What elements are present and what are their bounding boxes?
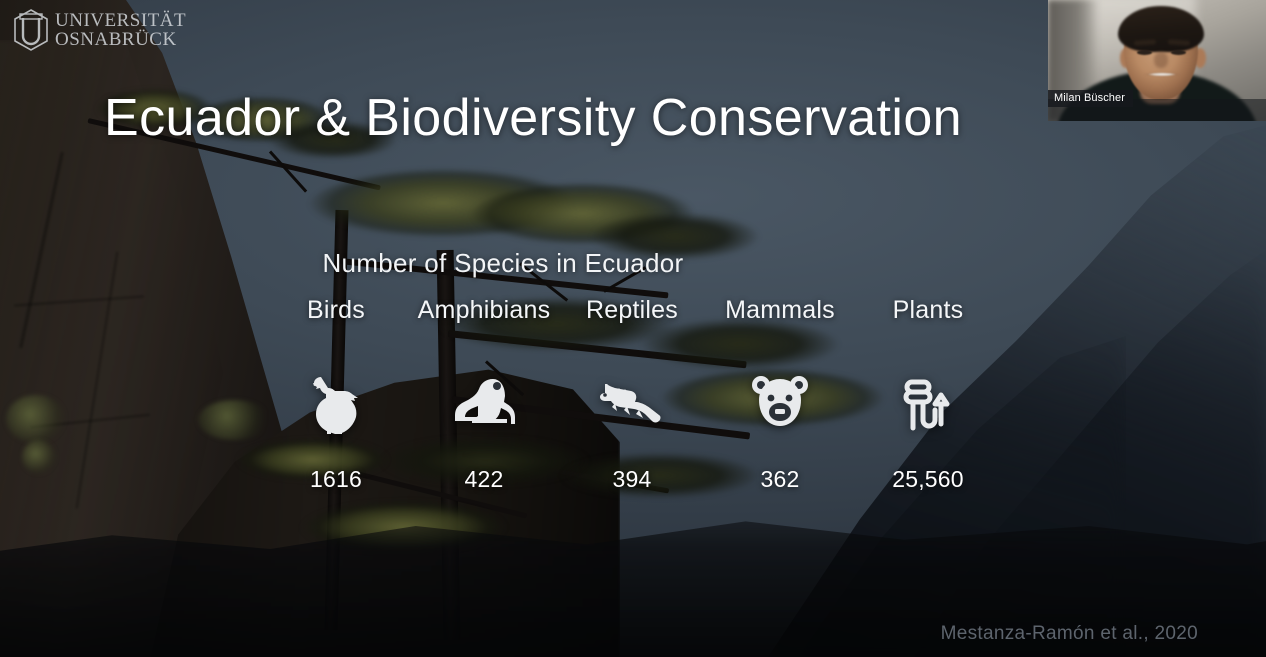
cliff-vegetation — [6, 395, 66, 443]
frog-icon — [453, 368, 515, 434]
lizard-icon — [597, 368, 667, 434]
frog-icon-glyph — [453, 375, 515, 427]
plants-icon-glyph — [899, 370, 957, 432]
lizard-icon-glyph — [597, 379, 667, 423]
species-value: 422 — [465, 466, 504, 493]
species-label: Reptiles — [586, 296, 678, 330]
logo-line-1: UNIVERSITÄT — [55, 11, 186, 30]
bird-icon-glyph — [309, 368, 363, 434]
university-logo-text: UNIVERSITÄT OSNABRÜCK — [55, 11, 186, 49]
source-citation: Mestanza-Ramón et al., 2020 — [941, 623, 1198, 645]
presentation-slide: UNIVERSITÄT OSNABRÜCK Ecuador & Biodiver… — [0, 0, 1266, 657]
species-chart: Birds 1616 Amphibians — [262, 296, 1002, 516]
webcam-person-eye-left — [1137, 50, 1152, 55]
webcam-person-nose — [1154, 52, 1168, 68]
species-column-birds: Birds 1616 — [262, 296, 410, 493]
species-column-reptiles: Reptiles 394 — [558, 296, 706, 493]
species-value: 1616 — [310, 466, 362, 493]
species-label: Birds — [307, 296, 365, 330]
webcam-participant-name: Milan Büscher — [1048, 90, 1133, 107]
species-value: 362 — [761, 466, 800, 493]
cliff-vegetation — [198, 400, 270, 440]
species-label: Plants — [893, 296, 964, 330]
logo-line-2: OSNABRÜCK — [55, 30, 186, 49]
species-value: 25,560 — [892, 466, 964, 493]
species-column-mammals: Mammals 362 — [706, 296, 854, 493]
bird-icon — [309, 368, 363, 434]
species-label: Amphibians — [418, 296, 551, 330]
species-column-plants: Plants 25,560 — [854, 296, 1002, 493]
chart-title: Number of Species in Ecuador — [0, 248, 1266, 279]
bear-icon-glyph — [750, 373, 810, 429]
bear-icon — [750, 368, 810, 434]
species-column-amphibians: Amphibians 422 — [410, 296, 558, 493]
webcam-video-tile[interactable]: Milan Büscher — [1048, 0, 1266, 121]
university-logo: UNIVERSITÄT OSNABRÜCK — [12, 8, 186, 52]
webcam-person-eye-right — [1171, 50, 1186, 55]
cliff-vegetation — [22, 440, 56, 474]
hexagon-u-emblem-icon — [12, 8, 50, 52]
plants-icon — [899, 368, 957, 434]
species-value: 394 — [613, 466, 652, 493]
species-label: Mammals — [725, 296, 835, 330]
